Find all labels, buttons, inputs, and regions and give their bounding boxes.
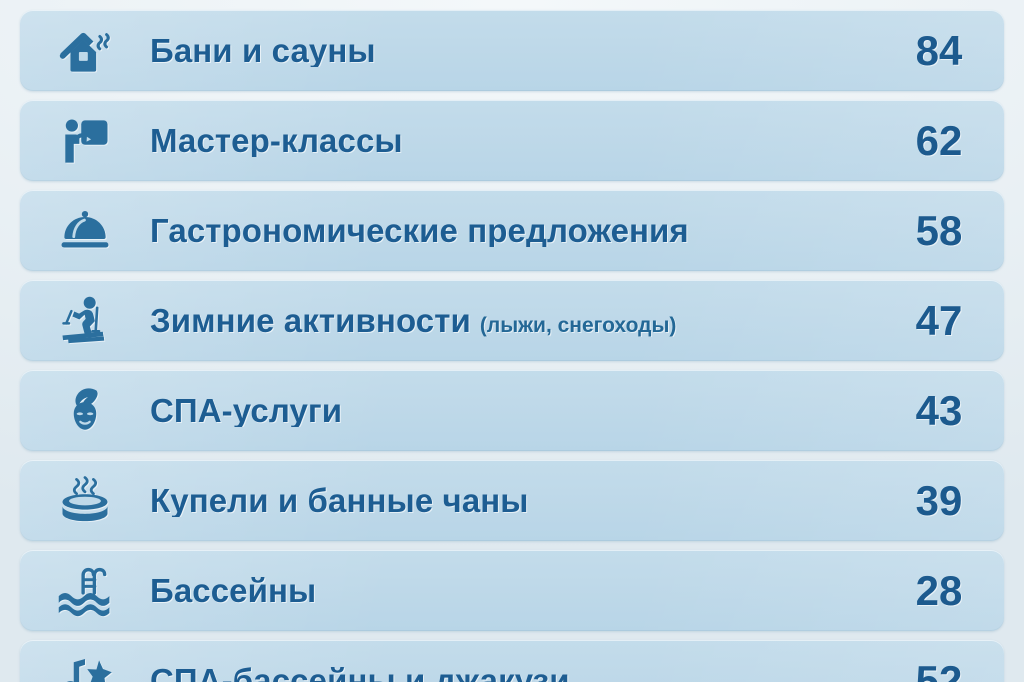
swimming-pool-icon [20, 550, 150, 631]
list-item-label-group: Гастрономические предложения [150, 214, 874, 247]
list-item-label-group: Бассейны [150, 574, 874, 607]
amenities-ranking-list: Бани и сауны 84 Мастер-классы 62 [0, 0, 1024, 682]
list-item[interactable]: Купели и банные чаны 39 [20, 460, 1004, 541]
list-item-value-cell: 39 [874, 480, 1004, 522]
list-item-label-group: СПА-услуги [150, 394, 874, 427]
list-item-label-group: Зимние активности (лыжи, снегоходы) [150, 304, 874, 337]
hot-tub-icon [20, 460, 150, 541]
list-item-label: Купели и банные чаны [150, 484, 529, 517]
list-item-value: 43 [916, 390, 963, 432]
list-item-label-group: Мастер-классы [150, 124, 874, 157]
list-item-value-cell: 52 [874, 660, 1004, 682]
list-item-label: Бассейны [150, 574, 316, 607]
list-item-value-cell: 28 [874, 570, 1004, 612]
spa-face-mask-icon [20, 370, 150, 451]
list-item-value: 62 [916, 120, 963, 162]
list-item-value: 47 [916, 300, 963, 342]
list-item-value: 28 [916, 570, 963, 612]
list-item[interactable]: Мастер-классы 62 [20, 100, 1004, 181]
list-item-label: Мастер-классы [150, 124, 403, 157]
list-item-value-cell: 62 [874, 120, 1004, 162]
list-item-value: 39 [916, 480, 963, 522]
list-item-value: 58 [916, 210, 963, 252]
list-item[interactable]: СПА-услуги 43 [20, 370, 1004, 451]
list-item-value: 84 [916, 30, 963, 72]
list-item-label: Гастрономические предложения [150, 214, 689, 247]
list-item-value-cell: 47 [874, 300, 1004, 342]
list-item-label: Бани и сауны [150, 34, 376, 67]
list-item[interactable]: Гастрономические предложения 58 [20, 190, 1004, 271]
list-item-label: СПА-бассейны и джакузи [150, 664, 570, 682]
masterclass-presenter-icon [20, 100, 150, 181]
list-item-label-group: Купели и банные чаны [150, 484, 874, 517]
list-item-value-cell: 43 [874, 390, 1004, 432]
list-item[interactable]: СПА-бассейны и джакузи 52 [20, 640, 1004, 682]
skier-icon [20, 280, 150, 361]
list-item[interactable]: Зимние активности (лыжи, снегоходы) 47 [20, 280, 1004, 361]
list-item-label-group: СПА-бассейны и джакузи [150, 664, 874, 682]
list-item[interactable]: Бассейны 28 [20, 550, 1004, 631]
music-star-icon [20, 640, 150, 682]
list-item-label: Зимние активности [150, 304, 471, 337]
list-item-value-cell: 58 [874, 210, 1004, 252]
sauna-house-icon [20, 10, 150, 91]
list-item-label: СПА-услуги [150, 394, 342, 427]
list-item-label-group: Бани и сауны [150, 34, 874, 67]
list-item[interactable]: Бани и сауны 84 [20, 10, 1004, 91]
food-cloche-icon [20, 190, 150, 271]
list-item-value: 52 [916, 660, 963, 682]
list-item-sublabel: (лыжи, снегоходы) [480, 315, 677, 336]
list-item-value-cell: 84 [874, 30, 1004, 72]
